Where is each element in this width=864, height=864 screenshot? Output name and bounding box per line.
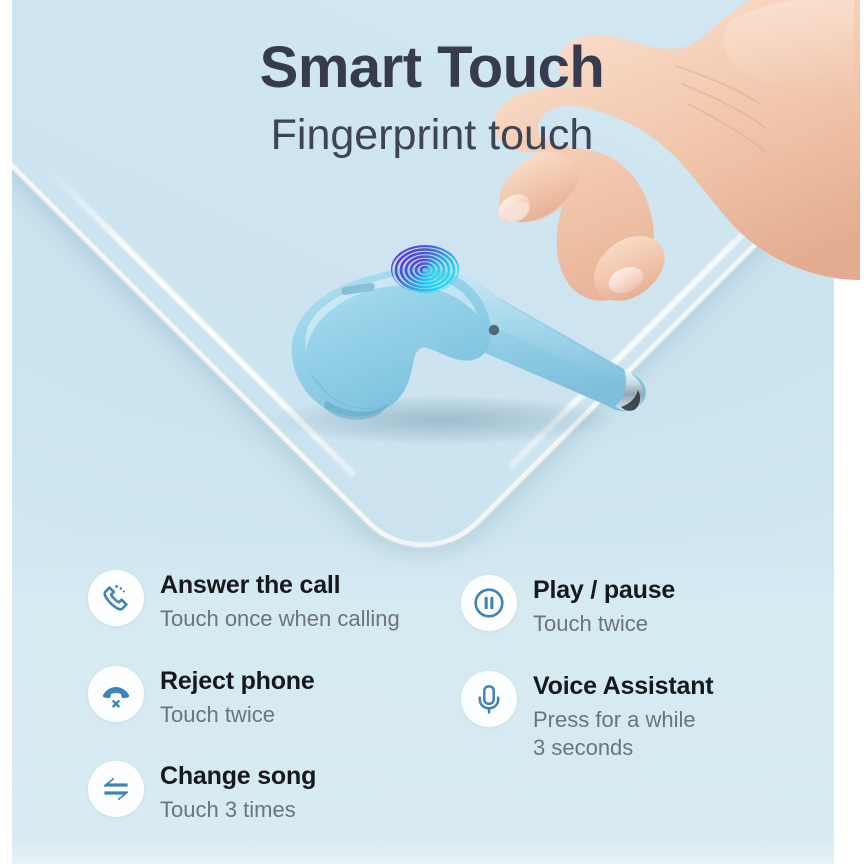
pause-circle-icon [461, 575, 517, 631]
phone-ringing-icon [88, 570, 144, 626]
phone-hangup-icon [88, 666, 144, 722]
feature-title: Change song [160, 762, 316, 792]
feature-subtitle: Touch twice [533, 610, 675, 639]
microphone-icon [461, 671, 517, 727]
feature-play-pause[interactable]: Play / pause Touch twice [461, 573, 824, 638]
feature-answer-the-call[interactable]: Answer the call Touch once when calling [88, 568, 451, 633]
feature-reject-phone[interactable]: Reject phone Touch twice [88, 664, 451, 729]
feature-title: Voice Assistant [533, 672, 713, 702]
feature-change-song[interactable]: Change song Touch 3 times [88, 759, 451, 824]
swap-arrows-icon [88, 761, 144, 817]
feature-column-left: Answer the call Touch once when calling [88, 568, 451, 864]
headline-block: Smart Touch Fingerprint touch [0, 38, 864, 160]
page-subtitle: Fingerprint touch [0, 111, 864, 160]
page-title: Smart Touch [0, 38, 864, 99]
feature-title: Reject phone [160, 667, 315, 697]
feature-subtitle: Touch 3 times [160, 796, 316, 825]
feature-subtitle: Press for a while 3 seconds [533, 706, 713, 763]
feature-column-right: Play / pause Touch twice Voic [461, 568, 824, 864]
feature-subtitle: Touch twice [160, 701, 315, 730]
feature-subtitle: Touch once when calling [160, 605, 400, 634]
microphone-hole [489, 325, 499, 335]
feature-title: Play / pause [533, 576, 675, 606]
feature-text: Answer the call Touch once when calling [160, 568, 400, 633]
product-feature-poster: Smart Touch Fingerprint touch [0, 0, 864, 864]
feature-text: Voice Assistant Press for a while 3 seco… [533, 669, 713, 763]
feature-text: Play / pause Touch twice [533, 573, 675, 638]
feature-voice-assistant[interactable]: Voice Assistant Press for a while 3 seco… [461, 669, 824, 763]
feature-list: Answer the call Touch once when calling [12, 568, 834, 864]
feature-text: Reject phone Touch twice [160, 664, 315, 729]
feature-text: Change song Touch 3 times [160, 759, 316, 824]
fingerprint-icon [389, 243, 461, 295]
feature-title: Answer the call [160, 571, 400, 601]
